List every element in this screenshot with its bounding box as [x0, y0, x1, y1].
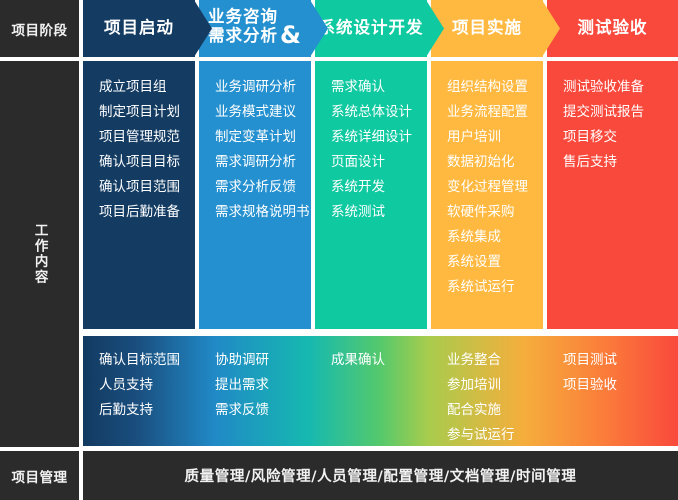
rail-label-work-content: 工作内容: [0, 61, 79, 447]
customer-task-list: 确认目标范围人员支持后勤支持: [99, 348, 195, 423]
customer-tasks-project-implementation: 业务整合参加培训配合实施参与试运行: [447, 336, 543, 446]
list-item[interactable]: 系统总体设计: [331, 100, 427, 125]
stage-tasks-testing-acceptance: 测试验收准备提交测试报告项目移交售后支持: [547, 61, 678, 329]
stage-header-label-system-design-development: 系统设计开发: [319, 19, 424, 38]
list-item[interactable]: 数据初始化: [447, 150, 543, 175]
list-item[interactable]: 确认目标范围: [99, 348, 195, 373]
list-item[interactable]: 制定项目计划: [99, 100, 195, 125]
project-management-bar: 质量管理/风险管理/人员管理/配置管理/文档管理/时间管理: [83, 451, 678, 500]
list-item[interactable]: 提出需求: [215, 373, 311, 398]
list-item[interactable]: 售后支持: [563, 150, 678, 175]
project-management-bar-text: 质量管理/风险管理/人员管理/配置管理/文档管理/时间管理: [185, 465, 577, 486]
stage-header-project-implementation[interactable]: 项目实施: [431, 0, 543, 57]
list-item[interactable]: 需求规格说明书: [215, 200, 311, 225]
stage-header-business-consulting-requirements[interactable]: 业务咨询需求分析&: [199, 0, 311, 57]
list-item[interactable]: 参加培训: [447, 373, 543, 398]
rail-label-project-management-text: 项目管理: [12, 466, 68, 486]
task-list: 业务调研分析业务模式建议制定变革计划需求调研分析需求分析反馈需求规格说明书: [215, 75, 311, 225]
stage-header-row: 项目启动业务咨询需求分析&系统设计开发项目实施测试验收: [83, 0, 678, 57]
stage-header-ampersand-business-consulting-requirements: &: [280, 22, 302, 50]
rail-label-work-content-text: 工作内容: [32, 223, 46, 285]
list-item[interactable]: 人员支持: [99, 373, 195, 398]
list-item[interactable]: 用户培训: [447, 125, 543, 150]
stage-header-system-design-development[interactable]: 系统设计开发: [315, 0, 427, 57]
task-list: 测试验收准备提交测试报告项目移交售后支持: [563, 75, 678, 175]
stage-header-testing-acceptance[interactable]: 测试验收: [547, 0, 678, 57]
customer-tasks-testing-acceptance: 项目测试项目验收: [563, 336, 678, 446]
customer-tasks-system-design-development: 成果确认: [331, 336, 427, 446]
list-item[interactable]: 软硬件采购: [447, 200, 543, 225]
stage-header-label-business-consulting-requirements: 业务咨询需求分析&: [208, 8, 302, 50]
customer-tasks-project-initiation: 确认目标范围人员支持后勤支持: [99, 336, 195, 446]
list-item[interactable]: 提交测试报告: [563, 100, 678, 125]
customer-task-list: 项目测试项目验收: [563, 348, 678, 398]
list-item[interactable]: 测试验收准备: [563, 75, 678, 100]
customer-task-list: 业务整合参加培训配合实施参与试运行: [447, 348, 543, 448]
list-item[interactable]: 项目管理规范: [99, 125, 195, 150]
list-item[interactable]: 成果确认: [331, 348, 427, 373]
task-list: 需求确认系统总体设计系统详细设计页面设计系统开发系统测试: [331, 75, 427, 225]
list-item[interactable]: 系统测试: [331, 200, 427, 225]
stage-tasks-project-initiation: 成立项目组制定项目计划项目管理规范确认项目目标确认项目范围项目后勤准备: [83, 61, 195, 329]
customer-task-list: 成果确认: [331, 348, 427, 373]
stage-header-line2-business-consulting-requirements: 需求分析: [208, 26, 278, 45]
list-item[interactable]: 制定变革计划: [215, 125, 311, 150]
process-flow-diagram: 项目阶段 工作内容 项目管理 项目启动业务咨询需求分析&系统设计开发项目实施测试…: [0, 0, 678, 500]
list-item[interactable]: 系统集成: [447, 225, 543, 250]
rail-label-project-phase-text: 项目阶段: [12, 19, 68, 39]
list-item[interactable]: 变化过程管理: [447, 175, 543, 200]
stage-tasks-project-implementation: 组织结构设置业务流程配置用户培训数据初始化变化过程管理软硬件采购系统集成系统设置…: [431, 61, 543, 329]
list-item[interactable]: 业务调研分析: [215, 75, 311, 100]
list-item[interactable]: 项目移交: [563, 125, 678, 150]
list-item[interactable]: 组织结构设置: [447, 75, 543, 100]
stage-header-label-project-implementation: 项目实施: [452, 19, 522, 38]
stage-header-lines-business-consulting-requirements: 业务咨询需求分析: [208, 8, 278, 46]
stage-header-label-project-initiation: 项目启动: [104, 19, 174, 38]
list-item[interactable]: 项目后勤准备: [99, 200, 195, 225]
list-item[interactable]: 需求反馈: [215, 398, 311, 423]
rail-label-project-phase: 项目阶段: [0, 0, 79, 57]
list-item[interactable]: 业务模式建议: [215, 100, 311, 125]
stage-tasks-system-design-development: 需求确认系统总体设计系统详细设计页面设计系统开发系统测试: [315, 61, 427, 329]
list-item[interactable]: 配合实施: [447, 398, 543, 423]
stage-tasks-business-consulting-requirements: 业务调研分析业务模式建议制定变革计划需求调研分析需求分析反馈需求规格说明书: [199, 61, 311, 329]
list-item[interactable]: 项目测试: [563, 348, 678, 373]
list-item[interactable]: 成立项目组: [99, 75, 195, 100]
customer-task-list: 协助调研提出需求需求反馈: [215, 348, 311, 423]
list-item[interactable]: 确认项目目标: [99, 150, 195, 175]
list-item[interactable]: 系统开发: [331, 175, 427, 200]
list-item[interactable]: 后勤支持: [99, 398, 195, 423]
list-item[interactable]: 参与试运行: [447, 423, 543, 448]
list-item[interactable]: 业务流程配置: [447, 100, 543, 125]
task-list: 成立项目组制定项目计划项目管理规范确认项目目标确认项目范围项目后勤准备: [99, 75, 195, 225]
list-item[interactable]: 项目验收: [563, 373, 678, 398]
list-item[interactable]: 需求确认: [331, 75, 427, 100]
customer-tasks-business-consulting-requirements: 协助调研提出需求需求反馈: [215, 336, 311, 446]
list-item[interactable]: 需求分析反馈: [215, 175, 311, 200]
stage-header-label-testing-acceptance: 测试验收: [578, 19, 648, 38]
list-item[interactable]: 系统试运行: [447, 275, 543, 300]
stage-task-row: 成立项目组制定项目计划项目管理规范确认项目目标确认项目范围项目后勤准备业务调研分…: [83, 61, 678, 329]
task-list: 组织结构设置业务流程配置用户培训数据初始化变化过程管理软硬件采购系统集成系统设置…: [447, 75, 543, 300]
list-item[interactable]: 系统设置: [447, 250, 543, 275]
rail-label-project-management: 项目管理: [0, 451, 79, 500]
list-item[interactable]: 确认项目范围: [99, 175, 195, 200]
list-item[interactable]: 协助调研: [215, 348, 311, 373]
customer-task-row: 确认目标范围人员支持后勤支持协助调研提出需求需求反馈成果确认业务整合参加培训配合…: [83, 336, 678, 446]
list-item[interactable]: 系统详细设计: [331, 125, 427, 150]
list-item[interactable]: 页面设计: [331, 150, 427, 175]
stage-header-project-initiation[interactable]: 项目启动: [83, 0, 195, 57]
list-item[interactable]: 需求调研分析: [215, 150, 311, 175]
list-item[interactable]: 业务整合: [447, 348, 543, 373]
